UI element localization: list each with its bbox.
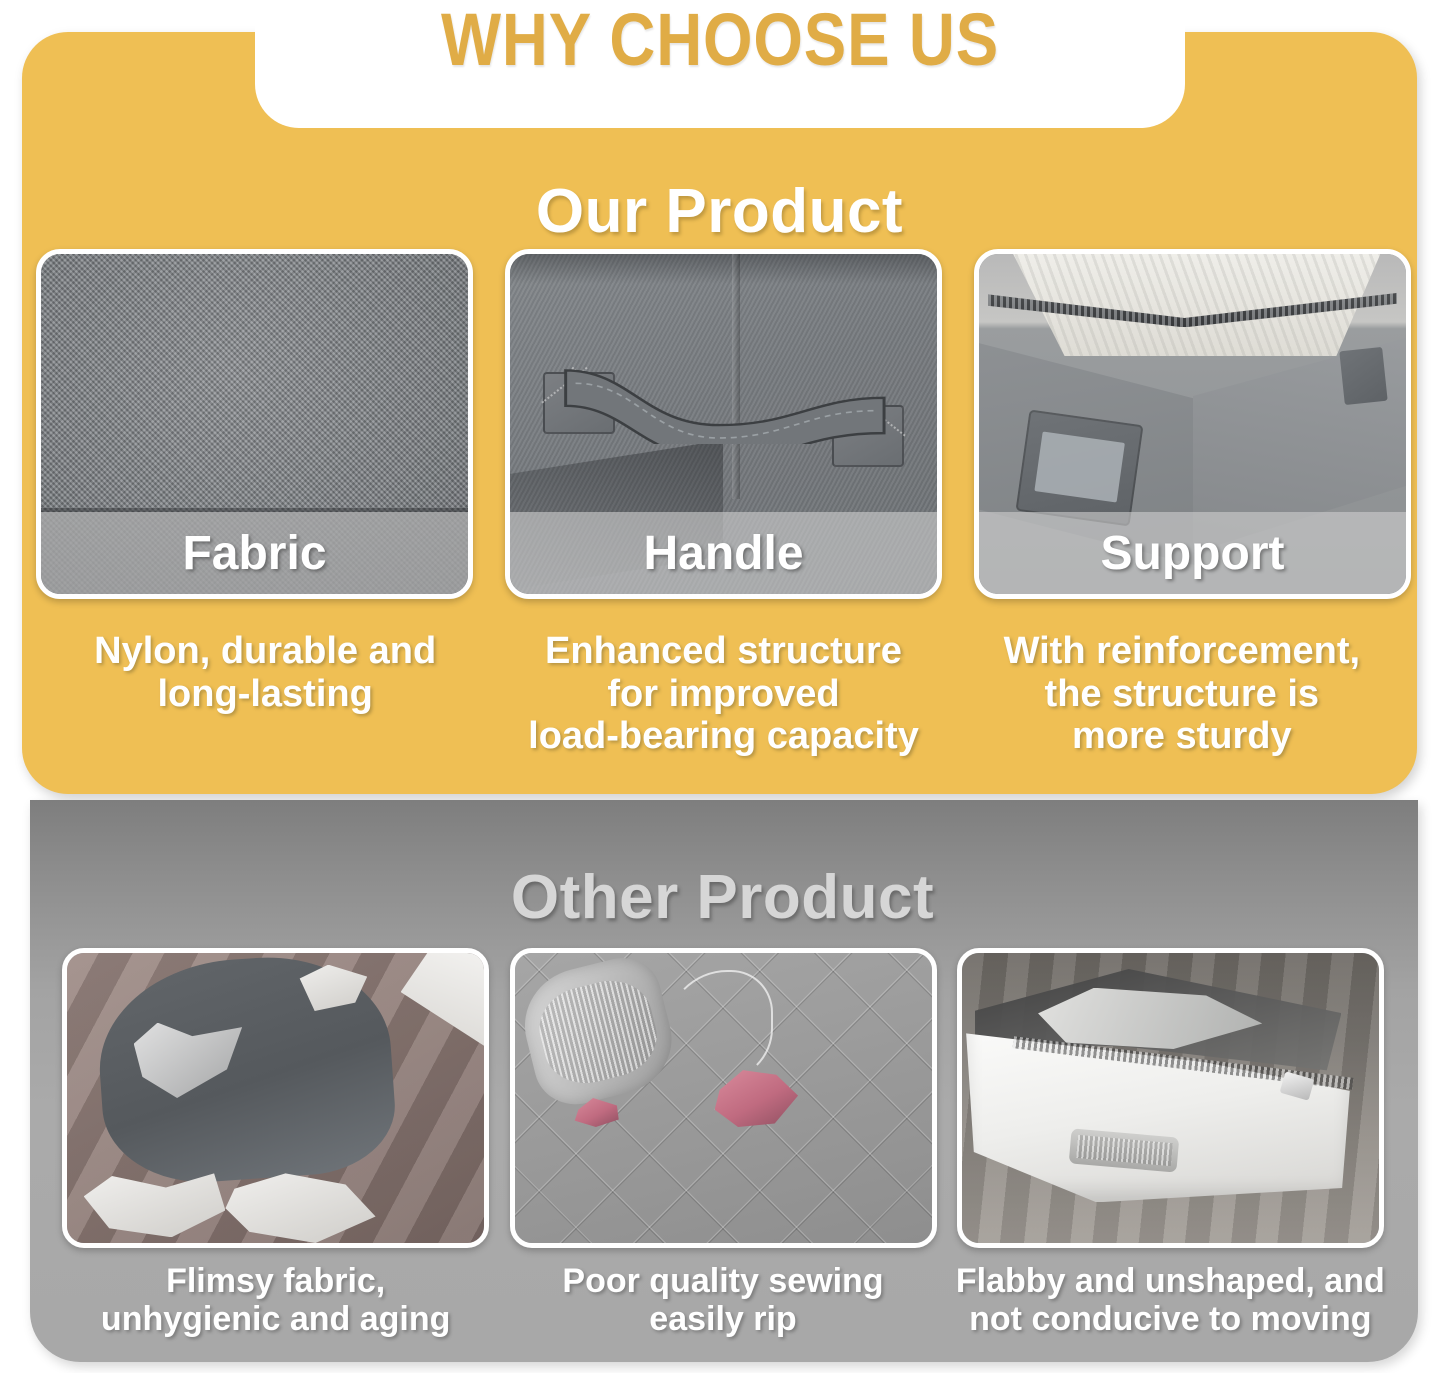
other-product-heading: Other Product: [0, 862, 1445, 933]
why-choose-us-infographic: WHY CHOOSE US Our Product Fabric: [0, 0, 1445, 1373]
product-card-fabric[interactable]: Fabric: [36, 249, 473, 599]
our-product-heading: Our Product: [22, 176, 1417, 247]
label-holder-window: [1015, 410, 1143, 527]
other-card-poor-sewing[interactable]: [510, 948, 937, 1248]
caption-flimsy-fabric: Flimsy fabric, unhygienic and aging: [52, 1262, 499, 1338]
other-product-card-row: [62, 948, 1384, 1248]
torn-bag-photo: [67, 953, 484, 1243]
product-card-support[interactable]: Support: [974, 249, 1411, 599]
card-label-fabric: Fabric: [41, 512, 468, 594]
card-label-support: Support: [979, 512, 1406, 594]
our-product-captions: Nylon, durable and long-lasting Enhanced…: [36, 630, 1411, 758]
caption-fabric: Nylon, durable and long-lasting: [36, 630, 494, 758]
product-card-handle[interactable]: Handle: [505, 249, 942, 599]
saggy-bag-photo: [962, 953, 1379, 1243]
other-card-flimsy-fabric[interactable]: [62, 948, 489, 1248]
caption-handle: Enhanced structure for improved load-bea…: [494, 630, 952, 758]
side-handle-tab: [1339, 347, 1387, 406]
page-title: WHY CHOOSE US: [320, 0, 1120, 82]
caption-poor-sewing: Poor quality sewing easily rip: [499, 1262, 946, 1338]
other-card-flabby-bag[interactable]: [957, 948, 1384, 1248]
caption-support: With reinforcement, the structure is mor…: [953, 630, 1411, 758]
card-label-handle: Handle: [510, 512, 937, 594]
other-product-captions: Flimsy fabric, unhygienic and aging Poor…: [52, 1262, 1394, 1338]
our-product-card-row: Fabric Handle: [36, 249, 1411, 599]
quilted-fabric-photo: [515, 953, 932, 1243]
caption-flabby-bag: Flabby and unshaped, and not conducive t…: [947, 1262, 1394, 1338]
